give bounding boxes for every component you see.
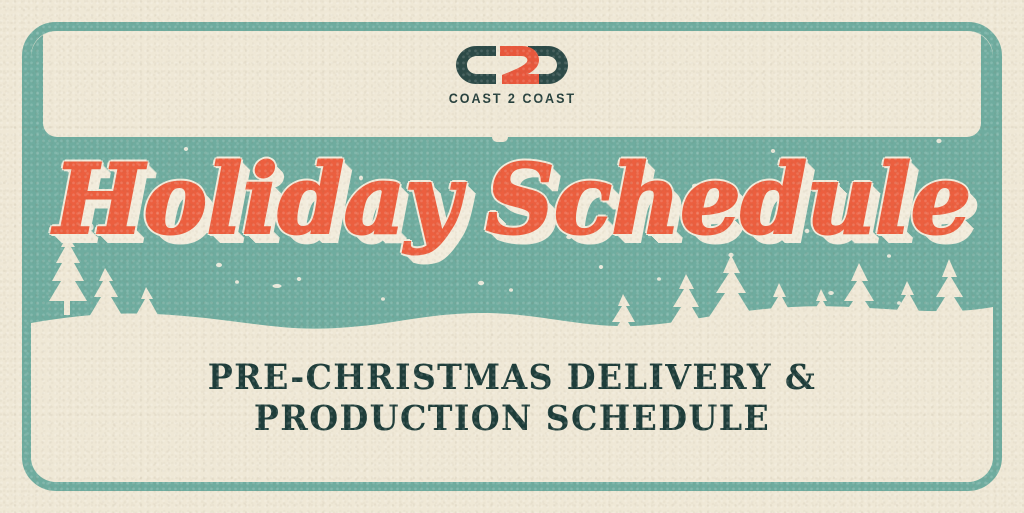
brand-wordmark: COAST 2 COAST	[448, 91, 575, 106]
page-title: HolidaySchedule	[0, 150, 1024, 251]
c2c-logo-mark	[456, 44, 568, 86]
subtitle-line-2: PRODUCTION SCHEDULE	[26, 399, 999, 440]
header-panel-notch	[492, 135, 508, 142]
brand-logo: COAST 2 COAST	[0, 44, 1024, 106]
holiday-schedule-poster: COAST 2 COAST HolidaySchedule PRE-CHRIST…	[0, 0, 1024, 513]
title-word-schedule: Schedule	[485, 143, 970, 256]
title-word-holiday: Holiday	[54, 143, 460, 256]
subtitle-line-1: PRE-CHRISTMAS DELIVERY &	[26, 358, 999, 399]
page-subtitle: PRE-CHRISTMAS DELIVERY & PRODUCTION SCHE…	[26, 358, 999, 440]
